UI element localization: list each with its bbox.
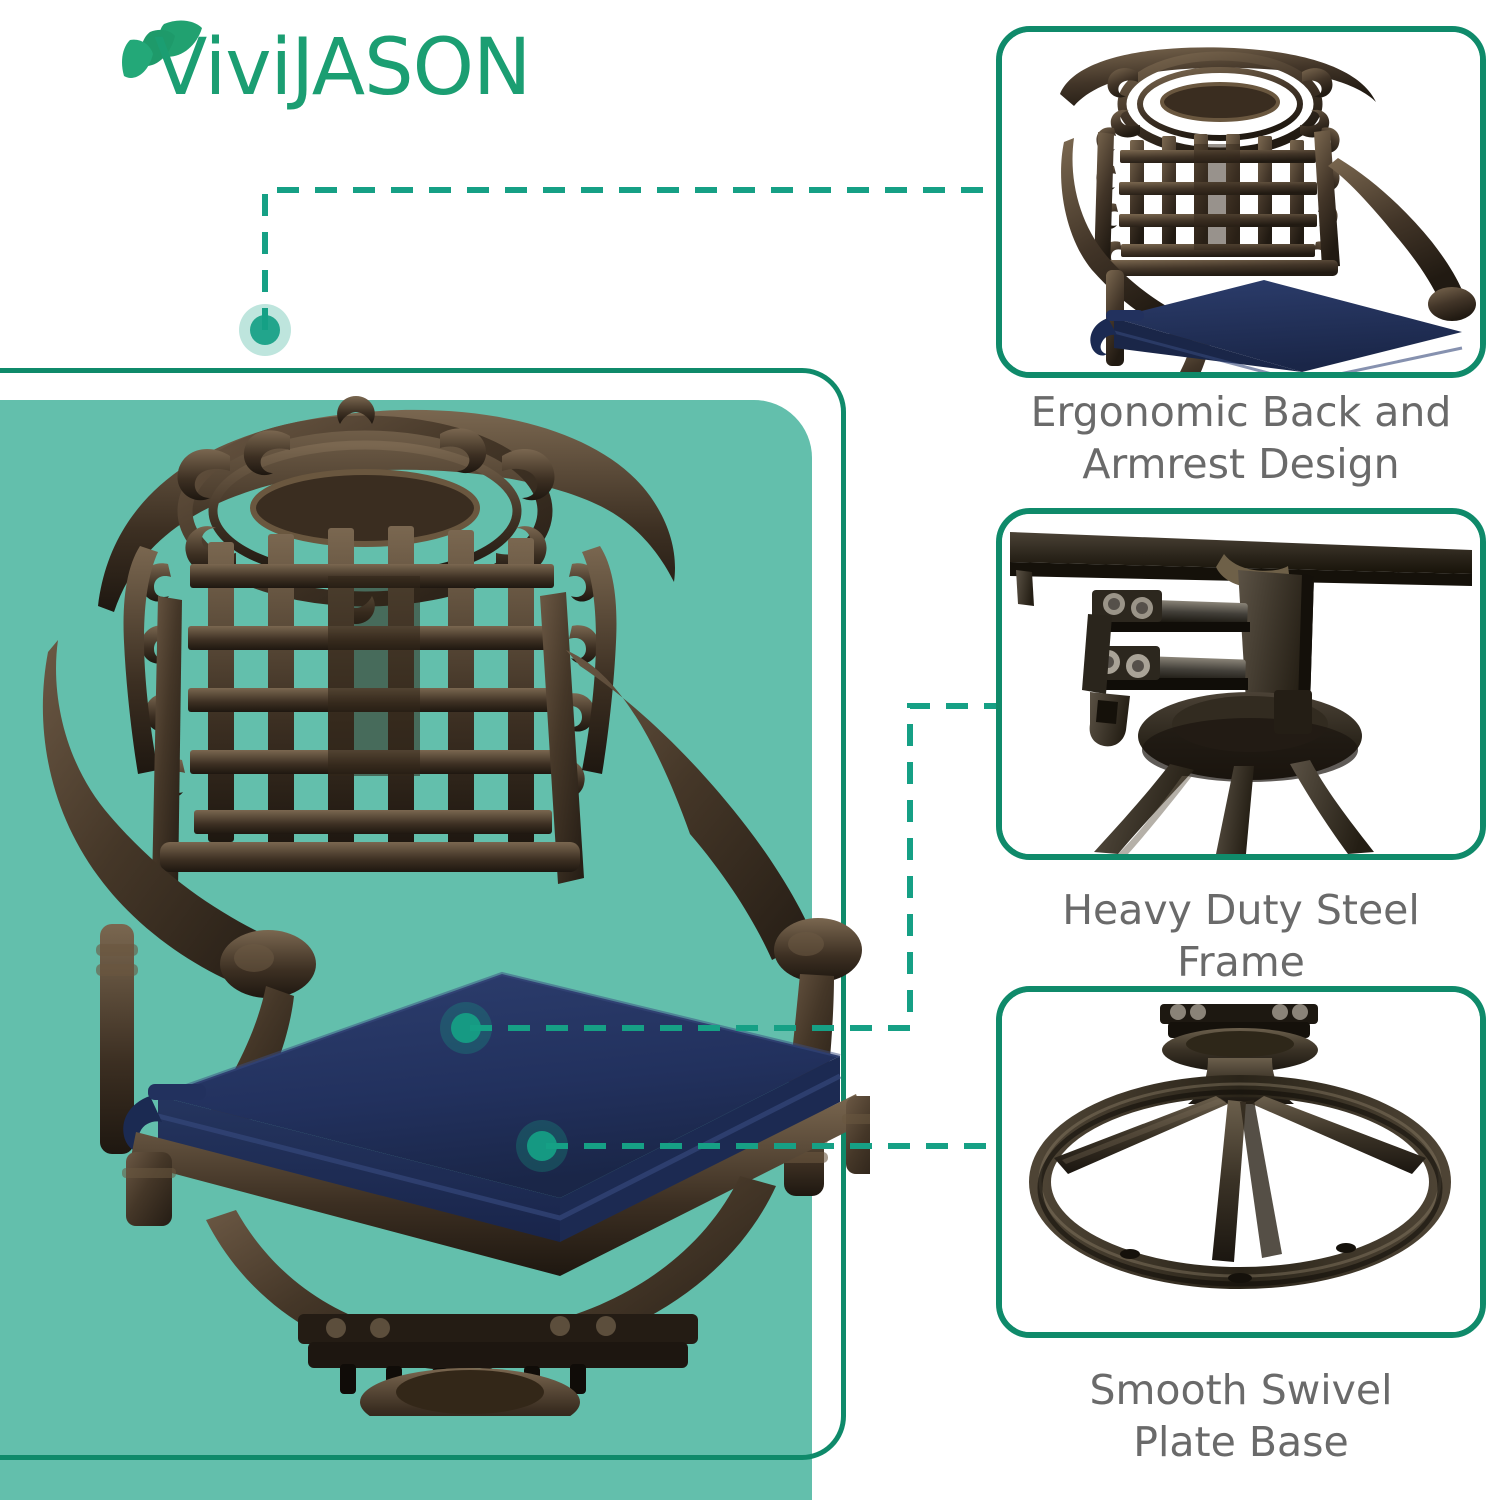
callout-card-ergonomic-back-armrest[interactable] <box>996 26 1486 378</box>
callout-card-smooth-swivel-plate-base[interactable] <box>996 986 1486 1338</box>
hero-product-image <box>40 296 870 1416</box>
callout-image-smooth-swivel-plate-base <box>1002 992 1480 1332</box>
callout-label-smooth-swivel-plate-base: Smooth Swivel Plate Base <box>996 1364 1486 1468</box>
callout-label-line-1: Smooth Swivel <box>996 1364 1486 1416</box>
callout-label-line-1: Ergonomic Back and <box>996 386 1486 438</box>
callout-label-ergonomic-back-armrest: Ergonomic Back and Armrest Design <box>996 386 1486 490</box>
callout-label-line-2: Armrest Design <box>996 438 1486 490</box>
chair-back-lattice <box>188 526 560 846</box>
callout-image-ergonomic-back-armrest <box>1002 32 1480 372</box>
callout-label-line-2: Plate Base <box>996 1416 1486 1468</box>
callout-image-heavy-duty-steel-frame <box>1002 514 1480 854</box>
brand-name: ViviJASON <box>154 26 530 110</box>
callout-label-heavy-duty-steel-frame: Heavy Duty Steel Frame <box>996 884 1486 988</box>
callout-card-heavy-duty-steel-frame[interactable] <box>996 508 1486 860</box>
callout-label-line-1: Heavy Duty Steel Frame <box>996 884 1486 988</box>
brand-logo: ViviJASON <box>58 18 558 118</box>
chair-back-bottom-rail <box>160 842 580 872</box>
